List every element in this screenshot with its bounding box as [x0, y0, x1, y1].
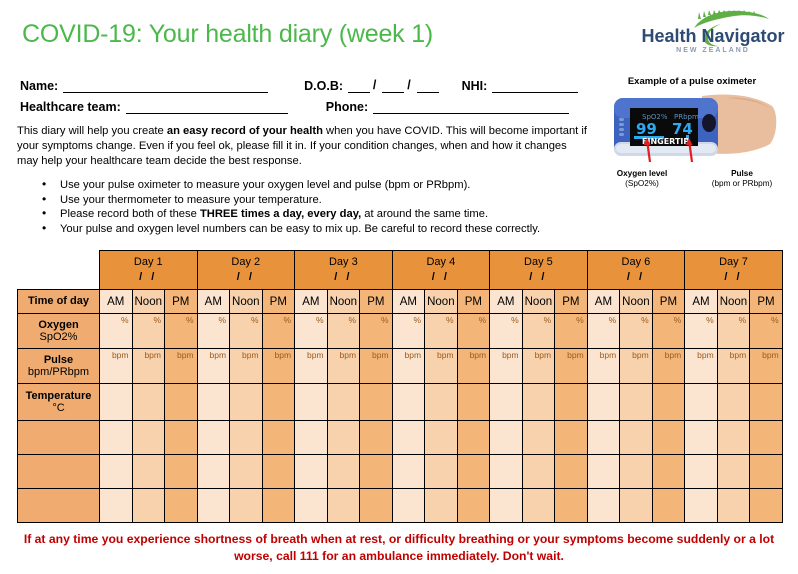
- oxygen-cell[interactable]: %: [587, 314, 620, 349]
- blank-cell[interactable]: [132, 421, 165, 455]
- unit-label: bpm: [600, 350, 617, 360]
- slot-header-noon: Noon: [620, 290, 653, 314]
- pulse-cell[interactable]: bpm: [165, 349, 198, 384]
- blank-cell[interactable]: [295, 489, 328, 523]
- oxygen-cell[interactable]: %: [132, 314, 165, 349]
- blank-cell[interactable]: [490, 489, 523, 523]
- pulse-cell[interactable]: bpm: [620, 349, 653, 384]
- temperature-cell[interactable]: [717, 384, 750, 421]
- blank-cell[interactable]: [165, 455, 198, 489]
- unit-label: %: [153, 315, 161, 325]
- blank-cell[interactable]: [100, 489, 133, 523]
- blank-cell[interactable]: [100, 421, 133, 455]
- unit-label: bpm: [340, 350, 357, 360]
- dob-month-field[interactable]: [382, 80, 404, 93]
- slot-header-noon: Noon: [717, 290, 750, 314]
- pulse-annotation-title: Pulse: [692, 169, 792, 179]
- day-header-6: Day 6 / /: [587, 251, 685, 290]
- unit-label: %: [609, 315, 617, 325]
- blank-cell[interactable]: [392, 455, 425, 489]
- pulse-cell[interactable]: bpm: [425, 349, 458, 384]
- blank-cell[interactable]: [750, 455, 783, 489]
- temperature-cell[interactable]: [165, 384, 198, 421]
- health-navigator-logo: Health Navigator NEW ZEALAND: [640, 10, 786, 58]
- oxygen-cell[interactable]: %: [165, 314, 198, 349]
- slot-header-pm: PM: [165, 290, 198, 314]
- pulse-cell[interactable]: bpm: [522, 349, 555, 384]
- blank-cell[interactable]: [360, 421, 393, 455]
- pulse-annotation-sub: (bpm or PRbpm): [692, 179, 792, 189]
- dob-slash-2: /: [407, 78, 410, 92]
- unit-label: bpm: [665, 350, 682, 360]
- row-label-sub: bpm/PRbpm: [18, 366, 99, 378]
- list-item: Please record both of these THREE times …: [30, 207, 590, 222]
- pulse-cell[interactable]: bpm: [295, 349, 328, 384]
- unit-label: %: [284, 315, 292, 325]
- emergency-warning: If at any time you experience shortness …: [22, 531, 776, 565]
- nhi-field[interactable]: [492, 80, 578, 93]
- unit-label: bpm: [567, 350, 584, 360]
- pulse-cell[interactable]: bpm: [100, 349, 133, 384]
- pulse-cell[interactable]: bpm: [392, 349, 425, 384]
- patient-details-form: Name: D.O.B: / / NHI: Healthcare team: P…: [20, 72, 580, 114]
- row-label-blank[interactable]: [18, 489, 100, 523]
- slot-header-am: AM: [587, 290, 620, 314]
- slot-header-noon: Noon: [230, 290, 263, 314]
- blank-cell[interactable]: [457, 421, 490, 455]
- unit-label: bpm: [470, 350, 487, 360]
- temperature-cell[interactable]: [230, 384, 263, 421]
- phone-field[interactable]: [373, 101, 569, 114]
- pulse-cell[interactable]: bpm: [490, 349, 523, 384]
- blank-cell[interactable]: [522, 489, 555, 523]
- blank-cell[interactable]: [230, 455, 263, 489]
- bullet-text: Use your thermometer to measure your tem…: [60, 194, 322, 206]
- unit-label: bpm: [209, 350, 226, 360]
- oxygen-cell[interactable]: %: [327, 314, 360, 349]
- row-label-sub: °C: [18, 402, 99, 414]
- blank-cell[interactable]: [717, 455, 750, 489]
- oxygen-cell[interactable]: %: [457, 314, 490, 349]
- row-label-main: Time of day: [18, 295, 99, 307]
- pulse-cell[interactable]: bpm: [262, 349, 295, 384]
- day-header-5: Day 5 / /: [490, 251, 588, 290]
- oxygen-annotation: Oxygen level (SpO2%): [592, 169, 692, 189]
- unit-label: %: [446, 315, 454, 325]
- blank-cell[interactable]: [360, 489, 393, 523]
- blank-cell[interactable]: [197, 421, 230, 455]
- blank-cell[interactable]: [522, 421, 555, 455]
- pulse-cell[interactable]: bpm: [750, 349, 783, 384]
- blank-cell[interactable]: [295, 455, 328, 489]
- unit-label: bpm: [405, 350, 422, 360]
- blank-cell[interactable]: [457, 455, 490, 489]
- slot-header-pm: PM: [262, 290, 295, 314]
- blank-cell[interactable]: [750, 489, 783, 523]
- blank-cell[interactable]: [360, 455, 393, 489]
- oxygen-cell[interactable]: %: [620, 314, 653, 349]
- unit-label: bpm: [697, 350, 714, 360]
- slot-header-noon: Noon: [425, 290, 458, 314]
- unit-label: bpm: [275, 350, 292, 360]
- day-header-2: Day 2 / /: [197, 251, 295, 290]
- oxygen-cell[interactable]: %: [652, 314, 685, 349]
- blank-cell[interactable]: [165, 421, 198, 455]
- oxygen-cell[interactable]: %: [230, 314, 263, 349]
- blank-cell[interactable]: [392, 489, 425, 523]
- day-header-7: Day 7 / /: [685, 251, 783, 290]
- temperature-cell[interactable]: [425, 384, 458, 421]
- unit-label: %: [641, 315, 649, 325]
- day-name: Day 4: [393, 255, 490, 270]
- day-date-field[interactable]: / /: [588, 270, 685, 285]
- healthcare-team-label: Healthcare team:: [20, 100, 121, 114]
- slot-header-am: AM: [490, 290, 523, 314]
- blank-cell[interactable]: [327, 455, 360, 489]
- unit-label: %: [771, 315, 779, 325]
- temperature-cell[interactable]: [360, 384, 393, 421]
- healthcare-team-field[interactable]: [126, 101, 288, 114]
- oxygen-cell[interactable]: %: [490, 314, 523, 349]
- unit-label: bpm: [437, 350, 454, 360]
- blank-cell[interactable]: [620, 489, 653, 523]
- unit-label: bpm: [632, 350, 649, 360]
- day-header-4: Day 4 / /: [392, 251, 490, 290]
- document-header: COVID-19: Your health diary (week 1) Hea…: [0, 0, 798, 66]
- unit-label: bpm: [112, 350, 129, 360]
- day-date-field[interactable]: / /: [295, 270, 392, 285]
- temperature-cell[interactable]: [490, 384, 523, 421]
- slot-header-am: AM: [100, 290, 133, 314]
- temperature-cell[interactable]: [750, 384, 783, 421]
- pulse-annotation: Pulse (bpm or PRbpm): [692, 169, 792, 189]
- slot-header-am: AM: [295, 290, 328, 314]
- blank-cell[interactable]: [132, 489, 165, 523]
- day-name: Day 5: [490, 255, 587, 270]
- slot-header-noon: Noon: [132, 290, 165, 314]
- unit-label: bpm: [177, 350, 194, 360]
- day-date-field[interactable]: / /: [198, 270, 295, 285]
- slot-header-pm: PM: [750, 290, 783, 314]
- svg-text:99: 99: [636, 120, 657, 138]
- unit-label: %: [544, 315, 552, 325]
- list-item: Use your thermometer to measure your tem…: [30, 193, 590, 208]
- unit-label: %: [511, 315, 519, 325]
- blank-cell[interactable]: [165, 489, 198, 523]
- bullet-text: Your pulse and oxygen level numbers can …: [60, 223, 540, 235]
- blank-cell[interactable]: [555, 489, 588, 523]
- row-label-main: Pulse: [18, 354, 99, 366]
- day-header-1: Day 1 / /: [100, 251, 198, 290]
- temperature-cell[interactable]: [652, 384, 685, 421]
- unit-label: %: [674, 315, 682, 325]
- oxygen-row: Oxygen SpO2% % % % % % % % % % % % % % %…: [18, 314, 783, 349]
- blank-cell[interactable]: [620, 455, 653, 489]
- intro-paragraph: This diary will help you create an easy …: [17, 124, 587, 169]
- blank-row: [18, 489, 783, 523]
- temperature-cell[interactable]: [197, 384, 230, 421]
- temperature-cell[interactable]: [620, 384, 653, 421]
- pulse-cell[interactable]: bpm: [587, 349, 620, 384]
- blank-cell[interactable]: [652, 421, 685, 455]
- slot-header-am: AM: [685, 290, 718, 314]
- temperature-cell[interactable]: [522, 384, 555, 421]
- unit-label: bpm: [242, 350, 259, 360]
- form-line-1: Name: D.O.B: / / NHI:: [20, 72, 580, 93]
- oxygen-cell[interactable]: %: [522, 314, 555, 349]
- blank-cell[interactable]: [262, 421, 295, 455]
- form-line-2: Healthcare team: Phone:: [20, 93, 580, 114]
- pulse-cell[interactable]: bpm: [132, 349, 165, 384]
- slot-header-am: AM: [197, 290, 230, 314]
- unit-label: bpm: [535, 350, 552, 360]
- svg-text:74: 74: [672, 120, 693, 138]
- unit-label: %: [186, 315, 194, 325]
- blank-cell[interactable]: [587, 489, 620, 523]
- pulse-cell[interactable]: bpm: [360, 349, 393, 384]
- pulse-cell[interactable]: bpm: [685, 349, 718, 384]
- day-name: Day 6: [588, 255, 685, 270]
- pulse-cell[interactable]: bpm: [197, 349, 230, 384]
- row-label-blank[interactable]: [18, 455, 100, 489]
- blank-cell[interactable]: [197, 489, 230, 523]
- unit-label: bpm: [502, 350, 519, 360]
- temperature-cell[interactable]: [327, 384, 360, 421]
- unit-label: %: [739, 315, 747, 325]
- day-date-field[interactable]: / /: [490, 270, 587, 285]
- diary-table: Day 1 / / Day 2 / / Day 3 / / Day 4 / /: [17, 250, 783, 523]
- blank-row: [18, 421, 783, 455]
- oxygen-cell[interactable]: %: [392, 314, 425, 349]
- blank-cell[interactable]: [685, 421, 718, 455]
- temperature-cell[interactable]: [295, 384, 328, 421]
- blank-cell[interactable]: [230, 421, 263, 455]
- time-of-day-row: Time of day AM Noon PM AM Noon PM AM Noo…: [18, 290, 783, 314]
- blank-cell[interactable]: [620, 421, 653, 455]
- blank-cell[interactable]: [652, 455, 685, 489]
- unit-label: %: [121, 315, 129, 325]
- logo-wordmark: Health Navigator: [640, 26, 786, 47]
- unit-label: %: [316, 315, 324, 325]
- dob-label: D.O.B:: [304, 79, 343, 93]
- temperature-cell[interactable]: [555, 384, 588, 421]
- blank-cell[interactable]: [262, 455, 295, 489]
- pulse-cell[interactable]: bpm: [230, 349, 263, 384]
- bullet-post: at around the same time.: [361, 208, 488, 220]
- oximeter-figure: Example of a pulse oximeter SpO2% PRbpm …: [592, 76, 792, 202]
- day-name: Day 7: [685, 255, 782, 270]
- pulse-cell[interactable]: bpm: [457, 349, 490, 384]
- blank-cell[interactable]: [132, 455, 165, 489]
- row-label-oxygen: Oxygen SpO2%: [18, 314, 100, 349]
- slot-header-pm: PM: [360, 290, 393, 314]
- name-label: Name:: [20, 79, 58, 93]
- slot-header-pm: PM: [555, 290, 588, 314]
- oxygen-cell[interactable]: %: [295, 314, 328, 349]
- logo-subtitle: NEW ZEALAND: [640, 47, 786, 54]
- blank-cell[interactable]: [685, 489, 718, 523]
- day-name: Day 1: [100, 255, 197, 270]
- temperature-row: Temperature °C: [18, 384, 783, 421]
- table-corner-blank: [18, 251, 100, 290]
- blank-row: [18, 455, 783, 489]
- pulse-cell[interactable]: bpm: [652, 349, 685, 384]
- blank-cell[interactable]: [652, 489, 685, 523]
- instructions-list: Use your pulse oximeter to measure your …: [30, 178, 590, 236]
- blank-cell[interactable]: [555, 421, 588, 455]
- slot-header-am: AM: [392, 290, 425, 314]
- unit-label: bpm: [730, 350, 747, 360]
- blank-cell[interactable]: [587, 421, 620, 455]
- unit-label: bpm: [144, 350, 161, 360]
- pulse-row: Pulse bpm/PRbpm bpm bpm bpm bpm bpm bpm …: [18, 349, 783, 384]
- oxygen-cell[interactable]: %: [360, 314, 393, 349]
- unit-label: %: [349, 315, 357, 325]
- slot-header-pm: PM: [457, 290, 490, 314]
- oxygen-cell[interactable]: %: [262, 314, 295, 349]
- name-field[interactable]: [63, 80, 268, 93]
- slot-header-noon: Noon: [327, 290, 360, 314]
- unit-label: %: [414, 315, 422, 325]
- slot-header-pm: PM: [652, 290, 685, 314]
- blank-cell[interactable]: [327, 421, 360, 455]
- row-label-main: Temperature: [18, 390, 99, 402]
- blank-cell[interactable]: [262, 489, 295, 523]
- oxygen-cell[interactable]: %: [100, 314, 133, 349]
- blank-cell[interactable]: [490, 455, 523, 489]
- oxygen-cell[interactable]: %: [750, 314, 783, 349]
- unit-label: %: [218, 315, 226, 325]
- unit-label: %: [576, 315, 584, 325]
- unit-label: %: [381, 315, 389, 325]
- blank-cell[interactable]: [327, 489, 360, 523]
- oxygen-cell[interactable]: %: [555, 314, 588, 349]
- row-label-time-of-day: Time of day: [18, 290, 100, 314]
- day-date-field[interactable]: / /: [100, 270, 197, 285]
- unit-label: bpm: [372, 350, 389, 360]
- blank-cell[interactable]: [457, 489, 490, 523]
- blank-cell[interactable]: [425, 421, 458, 455]
- oximeter-photo: SpO2% PRbpm 99 74 FINGERTIP: [606, 90, 778, 162]
- intro-part1: This diary will help you create: [17, 125, 167, 137]
- blank-cell[interactable]: [490, 421, 523, 455]
- row-label-temperature: Temperature °C: [18, 384, 100, 421]
- slot-header-noon: Noon: [522, 290, 555, 314]
- oxygen-annotation-sub: (SpO2%): [592, 179, 692, 189]
- oximeter-caption: Example of a pulse oximeter: [592, 76, 792, 87]
- blank-cell[interactable]: [685, 455, 718, 489]
- dob-slash-1: /: [373, 78, 376, 92]
- blank-cell[interactable]: [197, 455, 230, 489]
- day-date-field[interactable]: / /: [393, 270, 490, 285]
- pulse-cell[interactable]: bpm: [327, 349, 360, 384]
- pulse-cell[interactable]: bpm: [717, 349, 750, 384]
- row-label-main: Oxygen: [18, 319, 99, 331]
- temperature-cell[interactable]: [132, 384, 165, 421]
- nhi-label: NHI:: [462, 79, 488, 93]
- oxygen-cell[interactable]: %: [197, 314, 230, 349]
- bullet-pre: Please record both of these: [60, 208, 200, 220]
- row-label-blank[interactable]: [18, 421, 100, 455]
- unit-label: %: [706, 315, 714, 325]
- blank-cell[interactable]: [555, 455, 588, 489]
- blank-cell[interactable]: [425, 489, 458, 523]
- blank-cell[interactable]: [392, 421, 425, 455]
- blank-cell[interactable]: [717, 421, 750, 455]
- oxygen-cell[interactable]: %: [425, 314, 458, 349]
- table-header-row: Day 1 / / Day 2 / / Day 3 / / Day 4 / /: [18, 251, 783, 290]
- blank-cell[interactable]: [587, 455, 620, 489]
- unit-label: bpm: [762, 350, 779, 360]
- blank-cell[interactable]: [295, 421, 328, 455]
- intro-bold: an easy record of your health: [167, 125, 323, 137]
- row-label-pulse: Pulse bpm/PRbpm: [18, 349, 100, 384]
- dob-year-field[interactable]: [417, 80, 439, 93]
- phone-label: Phone:: [326, 100, 368, 114]
- temperature-cell[interactable]: [587, 384, 620, 421]
- blank-cell[interactable]: [717, 489, 750, 523]
- dob-day-field[interactable]: [348, 80, 370, 93]
- oxygen-cell[interactable]: %: [685, 314, 718, 349]
- blank-cell[interactable]: [425, 455, 458, 489]
- oximeter-annotations: Oxygen level (SpO2%) Pulse (bpm or PRbpm…: [592, 169, 792, 189]
- temperature-cell[interactable]: [392, 384, 425, 421]
- list-item: Use your pulse oximeter to measure your …: [30, 178, 590, 193]
- pulse-cell[interactable]: bpm: [555, 349, 588, 384]
- blank-cell[interactable]: [100, 455, 133, 489]
- temperature-cell[interactable]: [457, 384, 490, 421]
- bullet-bold: THREE times a day, every day,: [200, 208, 361, 220]
- oxygen-annotation-title: Oxygen level: [592, 169, 692, 179]
- health-diary-page: COVID-19: Your health diary (week 1) Hea…: [0, 0, 798, 574]
- list-item: Your pulse and oxygen level numbers can …: [30, 222, 590, 237]
- temperature-cell[interactable]: [262, 384, 295, 421]
- temperature-cell[interactable]: [100, 384, 133, 421]
- bullet-text: Use your pulse oximeter to measure your …: [60, 179, 470, 191]
- unit-label: bpm: [307, 350, 324, 360]
- day-name: Day 3: [295, 255, 392, 270]
- row-label-sub: SpO2%: [18, 331, 99, 343]
- unit-label: %: [479, 315, 487, 325]
- day-header-3: Day 3 / /: [295, 251, 393, 290]
- blank-cell[interactable]: [750, 421, 783, 455]
- day-name: Day 2: [198, 255, 295, 270]
- blank-cell[interactable]: [522, 455, 555, 489]
- day-date-field[interactable]: / /: [685, 270, 782, 285]
- oxygen-cell[interactable]: %: [717, 314, 750, 349]
- blank-cell[interactable]: [230, 489, 263, 523]
- page-title: COVID-19: Your health diary (week 1): [22, 20, 433, 49]
- temperature-cell[interactable]: [685, 384, 718, 421]
- unit-label: %: [251, 315, 259, 325]
